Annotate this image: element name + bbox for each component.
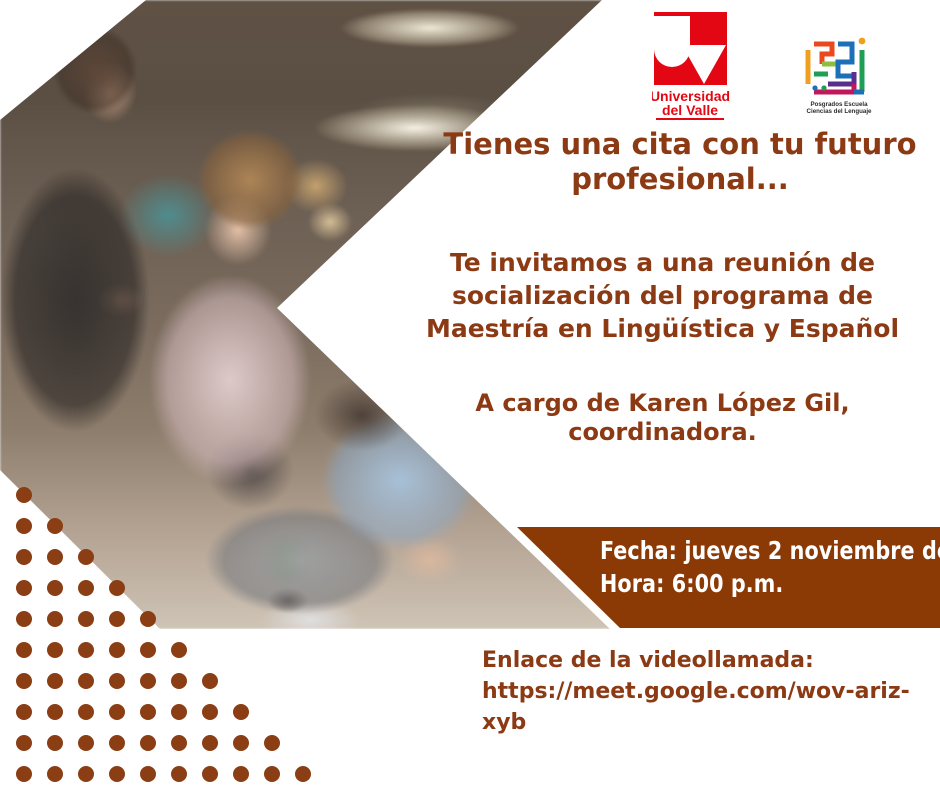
decorative-dot [78, 642, 94, 658]
decorative-dot [202, 766, 218, 782]
decorative-dot [16, 766, 32, 782]
schedule-date: Fecha: jueves 2 noviembre de 2023 [600, 534, 913, 567]
videocall-link-url[interactable]: https://meet.google.com/wov-ariz-xyb [482, 679, 910, 735]
posgrados-ecl-logo: Posgrados Escuela Ciencias del Lenguaje [798, 30, 880, 116]
invitation-line-1: Te invitamos a una reunión de [390, 246, 935, 279]
decorative-dot [47, 642, 63, 658]
universidad-del-valle-logo: Universidad del Valle [652, 12, 734, 120]
decorative-dot [47, 735, 63, 751]
decorative-dot [16, 487, 32, 503]
decorative-dot [171, 642, 187, 658]
decorative-dot [16, 704, 32, 720]
ecl-label-line1: Posgrados Escuela [810, 101, 868, 108]
decorative-dot [264, 766, 280, 782]
logo-row: Universidad del Valle Posgrados Escuela … [646, 8, 886, 120]
decorative-dot [16, 611, 32, 627]
ecl-dot-small-1 [812, 85, 817, 90]
videocall-link-block: Enlace de la videollamada: https://meet.… [482, 645, 940, 739]
ecl-dot-accent [859, 38, 866, 45]
decorative-dot [295, 766, 311, 782]
decorative-dot [16, 580, 32, 596]
decorative-dot [109, 735, 125, 751]
coordinator-text: A cargo de Karen López Gil, coordinadora… [390, 389, 935, 448]
decorative-dot [233, 704, 249, 720]
decorative-dot [233, 766, 249, 782]
decorative-dot [202, 673, 218, 689]
dot-pattern-decoration [0, 480, 330, 788]
decorative-dot [109, 766, 125, 782]
headline-text: Tienes una cita con tu futuro profesiona… [430, 127, 930, 198]
videocall-link-label: Enlace de la videollamada: [482, 645, 940, 676]
ecl-maze-graphic [808, 44, 864, 92]
decorative-dot [202, 735, 218, 751]
decorative-dot [140, 704, 156, 720]
decorative-dot [78, 611, 94, 627]
decorative-dot [140, 673, 156, 689]
decorative-dot [16, 642, 32, 658]
decorative-dot [171, 766, 187, 782]
ecl-dot-small-2 [821, 85, 826, 90]
ecl-label-line2: Ciencias del Lenguaje [807, 108, 873, 115]
decorative-dot [109, 704, 125, 720]
decorative-dot [47, 518, 63, 534]
decorative-dot [16, 673, 32, 689]
schedule-text: Fecha: jueves 2 noviembre de 2023 Hora: … [600, 534, 913, 600]
decorative-dot [109, 611, 125, 627]
invitation-line-2: socialización del programa de [390, 279, 935, 312]
decorative-dot [78, 549, 94, 565]
decorative-dot [171, 704, 187, 720]
decorative-dot [16, 549, 32, 565]
decorative-dot [171, 735, 187, 751]
decorative-dot [140, 766, 156, 782]
invitation-line-3: Maestría en Lingüística y Español [390, 312, 935, 345]
decorative-dot [78, 673, 94, 689]
decorative-dot [109, 642, 125, 658]
decorative-dot [47, 766, 63, 782]
decorative-dot [171, 673, 187, 689]
decorative-dot [78, 704, 94, 720]
decorative-dot [47, 580, 63, 596]
invitation-text: Te invitamos a una reunión de socializac… [390, 246, 935, 345]
decorative-dot [47, 673, 63, 689]
univalle-quarter-circle [654, 16, 690, 67]
flyer-canvas: Universidad del Valle Posgrados Escuela … [0, 0, 940, 788]
decorative-dot [140, 611, 156, 627]
decorative-dot [16, 735, 32, 751]
univalle-underline [656, 118, 724, 120]
decorative-dot [109, 580, 125, 596]
decorative-dot [202, 704, 218, 720]
decorative-dot [47, 704, 63, 720]
decorative-dot [140, 735, 156, 751]
decorative-dot [140, 642, 156, 658]
decorative-dot [264, 735, 280, 751]
decorative-dot [78, 766, 94, 782]
corner-triangle-top-left [0, 0, 146, 120]
decorative-dot [78, 735, 94, 751]
decorative-dot [16, 518, 32, 534]
decorative-dot [233, 735, 249, 751]
univalle-label-line2: del Valle [662, 102, 718, 118]
decorative-dot [109, 673, 125, 689]
decorative-dot [47, 611, 63, 627]
schedule-time: Hora: 6:00 p.m. [600, 567, 913, 600]
decorative-dot [47, 549, 63, 565]
decorative-dot [78, 580, 94, 596]
